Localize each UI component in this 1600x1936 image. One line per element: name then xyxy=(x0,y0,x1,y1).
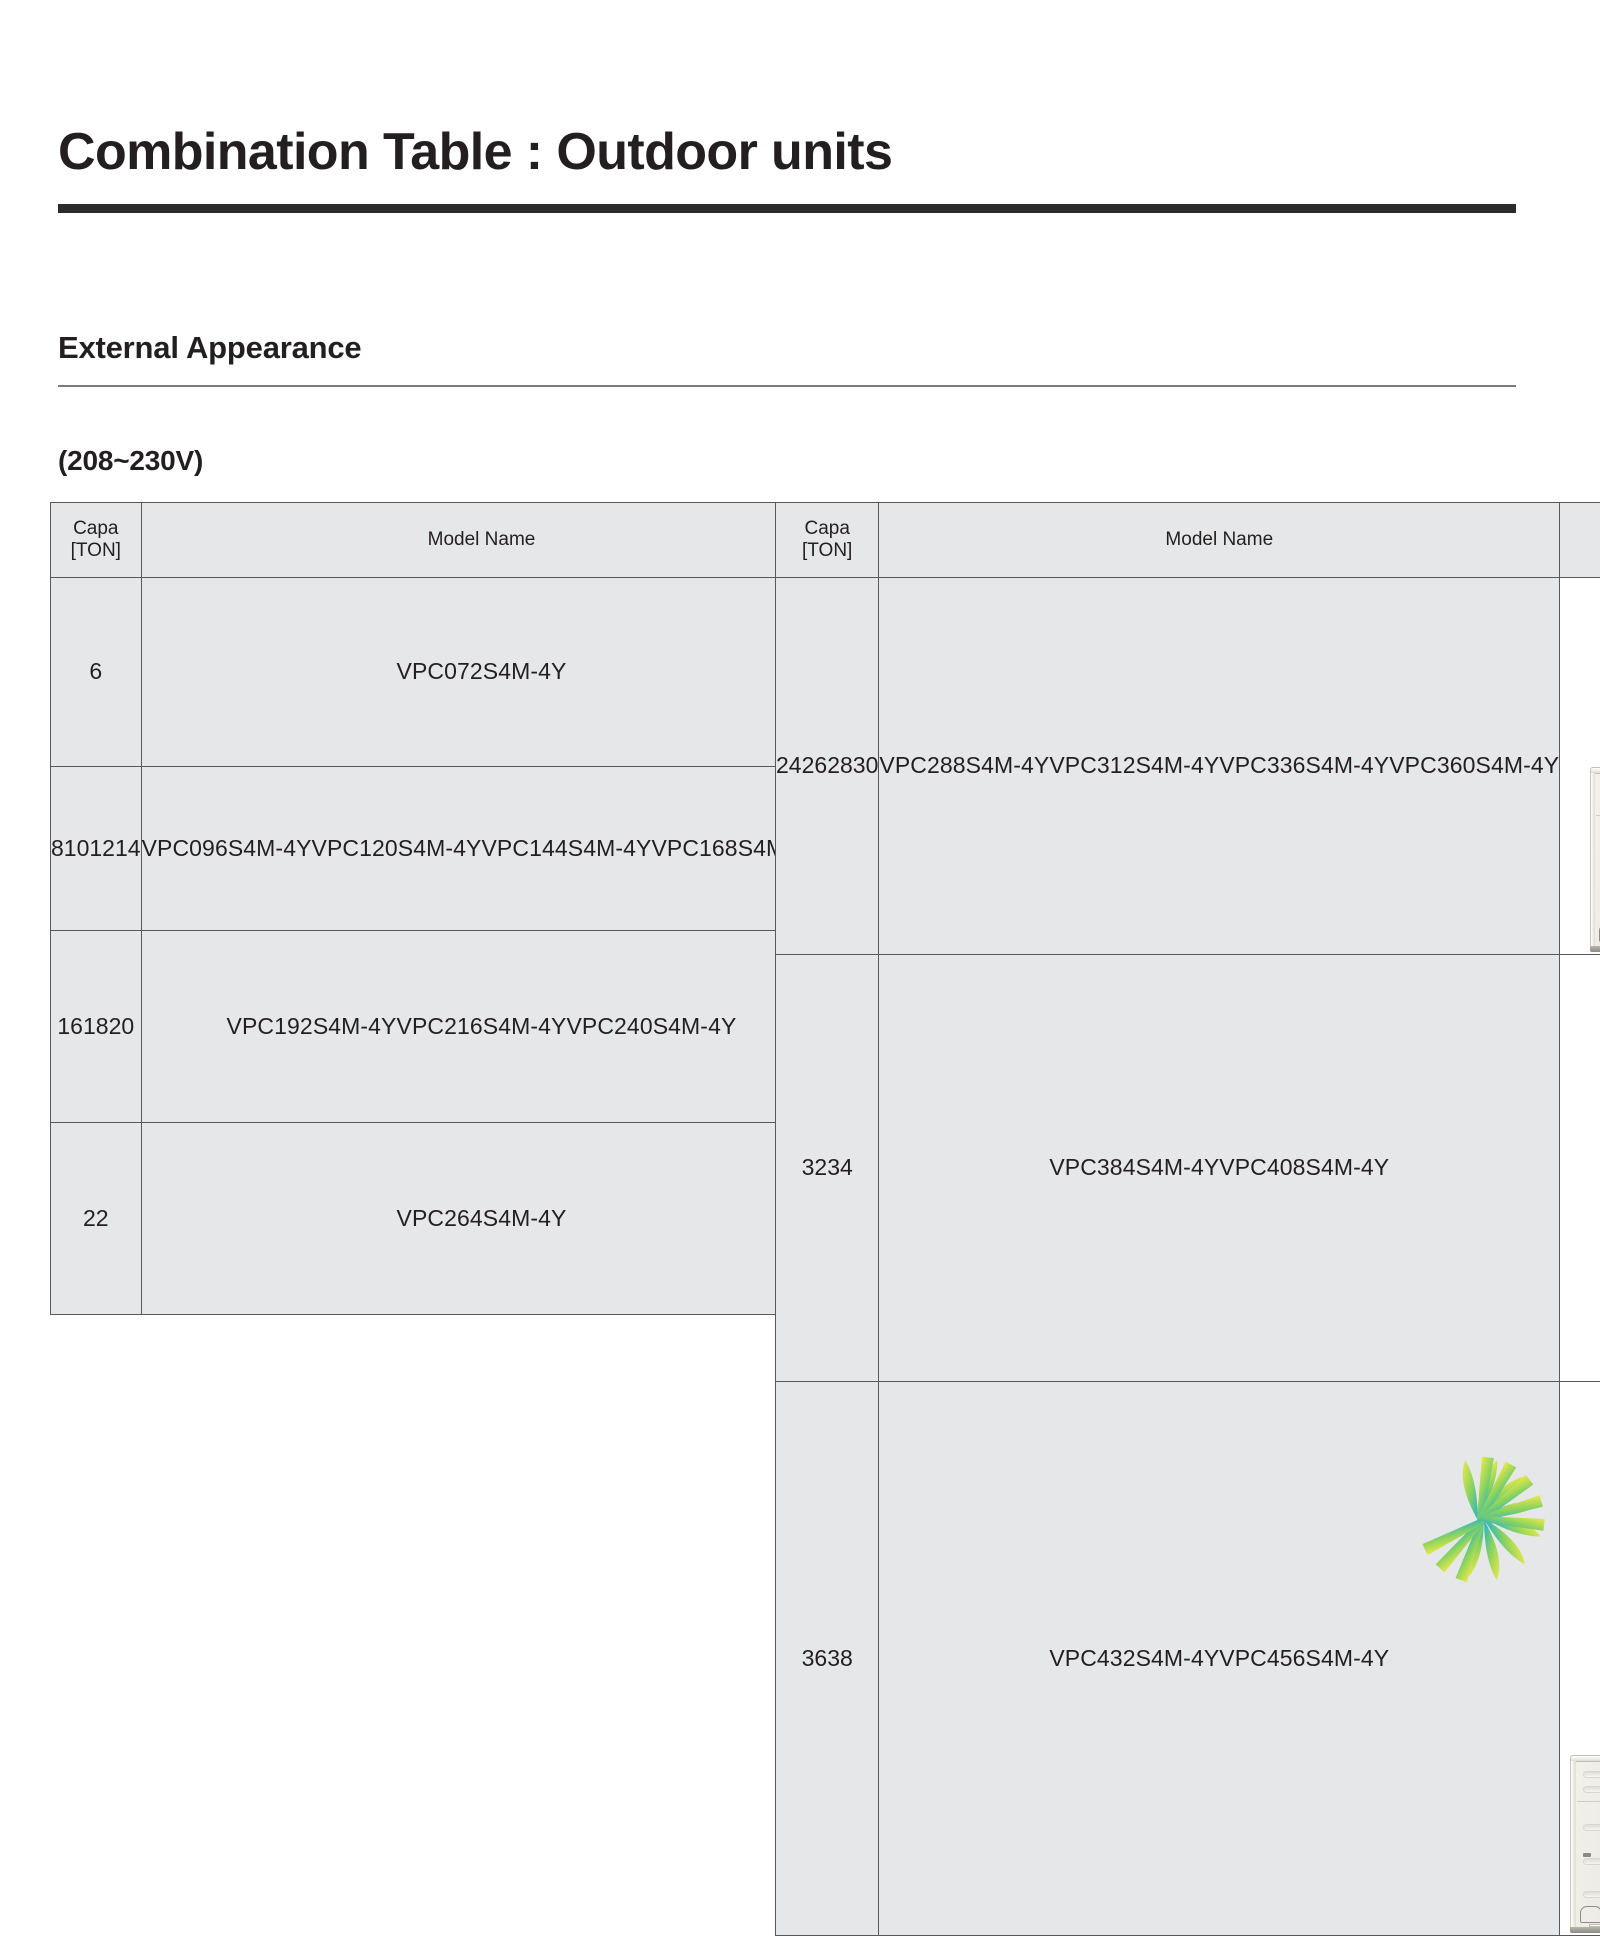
model-name-cell: VPC384S4M-4YVPC408S4M-4Y xyxy=(879,955,1560,1382)
unit-louver xyxy=(1583,1786,1600,1793)
section-divider xyxy=(58,385,1516,387)
table-row: 24262830VPC288S4M-4YVPC312S4M-4YVPC336S4… xyxy=(776,578,1600,955)
model-image-cell: LENNOXPOWERED BYSAMSUNGLENNOXPOWERED BYS… xyxy=(1560,578,1600,955)
unit-foot xyxy=(1589,1924,1600,1927)
page-root: Combination Table : Outdoor units Extern… xyxy=(0,0,1600,1600)
table-body-right: 24262830VPC288S4M-4YVPC312S4M-4YVPC336S4… xyxy=(776,578,1600,1936)
unit-louver xyxy=(1583,1858,1600,1865)
header-model: Model xyxy=(1560,503,1600,578)
capacity-value: 34 xyxy=(827,1154,853,1180)
capacity-value: 26 xyxy=(802,752,828,778)
model-image-cell: LENNOXPOWERED BYSAMSUNGLENNOXPOWERED BYS… xyxy=(1560,1382,1600,1936)
capacity-cell: 8101214 xyxy=(51,767,142,931)
header-capa-line1: Capa xyxy=(73,518,118,539)
capacity-cell: 3638 xyxy=(776,1382,879,1936)
capacity-value: 28 xyxy=(827,752,853,778)
capacity-value: 10 xyxy=(64,835,90,861)
unit-group: LENNOXPOWERED BYSAMSUNGLENNOXPOWERED BYS… xyxy=(1590,766,1600,954)
capacity-value: 32 xyxy=(802,1154,828,1180)
header-capa-line1: Capa xyxy=(804,518,849,539)
outdoor-unit: LENNOXPOWERED BYSAMSUNG xyxy=(1590,773,1600,948)
model-name-cell: VPC192S4M-4YVPC216S4M-4YVPC240S4M-4Y xyxy=(141,931,822,1123)
capacity-cell: 3234 xyxy=(776,955,879,1382)
model-name-value: VPC384S4M-4Y xyxy=(1049,1154,1219,1180)
table-row: 3234VPC384S4M-4YVPC408S4M-4YLENNOXPOWERE… xyxy=(776,955,1600,1382)
unit-louver xyxy=(1583,1824,1600,1831)
unit-handle xyxy=(1583,1853,1592,1857)
model-name-cell: VPC096S4M-4YVPC120S4M-4YVPC144S4M-4YVPC1… xyxy=(141,767,822,931)
voltage-label: (208~230V) xyxy=(58,445,203,477)
model-name-value: VPC144S4M-4Y xyxy=(481,835,651,861)
capacity-value: 12 xyxy=(89,835,115,861)
unit-group: LENNOXPOWERED BYSAMSUNGLENNOXPOWERED BYS… xyxy=(1560,1754,1600,1935)
model-name-value: VPC336S4M-4Y xyxy=(1219,752,1389,778)
model-name-value: VPC456S4M-4Y xyxy=(1219,1645,1389,1671)
combination-table-right: Capa [TON] Model Name Model 24262830VPC2… xyxy=(775,502,1600,1936)
unit-group: LENNOXPOWERED BYSAMSUNGLENNOXPOWERED BYS… xyxy=(1570,1754,1600,1935)
header-capa: Capa [TON] xyxy=(51,503,142,578)
unit-left-edge xyxy=(1591,773,1595,947)
unit-louver xyxy=(1583,1771,1600,1778)
unit-seam xyxy=(1577,1801,1600,1802)
model-name-value: VPC192S4M-4Y xyxy=(227,1013,397,1039)
capacity-value: 36 xyxy=(802,1645,828,1671)
capacity-value: 14 xyxy=(115,835,141,861)
header-model-name: Model Name xyxy=(879,503,1560,578)
model-name-cell: VPC264S4M-4Y xyxy=(141,1123,822,1315)
capacity-value: 18 xyxy=(83,1013,109,1039)
capacity-cell: 6 xyxy=(51,578,142,767)
model-name-value: VPC216S4M-4Y xyxy=(397,1013,567,1039)
model-image-cell: LENNOXPOWERED BYSAMSUNGLENNOXPOWERED BYS… xyxy=(1560,955,1600,1382)
model-name-value: VPC120S4M-4Y xyxy=(312,835,482,861)
capacity-value: 24 xyxy=(776,752,802,778)
unit-left-edge xyxy=(1571,1761,1576,1928)
unit-base xyxy=(1590,946,1600,952)
capacity-cell: 22 xyxy=(51,1123,142,1315)
outdoor-unit: LENNOXPOWERED BYSAMSUNG xyxy=(1570,1761,1600,1929)
unit-pipe-cover xyxy=(1580,1906,1600,1923)
table-head-right: Capa [TON] Model Name Model xyxy=(776,503,1600,578)
model-illustration: LENNOXPOWERED BYSAMSUNGLENNOXPOWERED BYS… xyxy=(1560,578,1600,954)
model-name-value: VPC312S4M-4Y xyxy=(1049,752,1219,778)
capacity-cell: 24262830 xyxy=(776,578,879,955)
capacity-cell: 161820 xyxy=(51,931,142,1123)
model-name-value: VPC432S4M-4Y xyxy=(1049,1645,1219,1671)
unit-base xyxy=(1570,1927,1600,1933)
model-name-value: VPC072S4M-4Y xyxy=(397,658,567,684)
model-name-value: VPC096S4M-4Y xyxy=(142,835,312,861)
header-capa-line2: [TON] xyxy=(802,540,852,561)
model-name-cell: VPC288S4M-4YVPC312S4M-4YVPC336S4M-4YVPC3… xyxy=(879,578,1560,955)
section-heading: External Appearance xyxy=(58,330,361,366)
capacity-value: 6 xyxy=(89,658,102,684)
capacity-value: 16 xyxy=(57,1013,83,1039)
capacity-value: 30 xyxy=(853,752,879,778)
model-name-value: VPC360S4M-4Y xyxy=(1389,752,1559,778)
title-divider xyxy=(58,204,1516,213)
capacity-value: 20 xyxy=(109,1013,135,1039)
header-capa: Capa [TON] xyxy=(776,503,879,578)
model-name-cell: VPC072S4M-4Y xyxy=(141,578,822,767)
model-illustration: LENNOXPOWERED BYSAMSUNGLENNOXPOWERED BYS… xyxy=(1560,955,1600,1381)
header-capa-line2: [TON] xyxy=(71,540,121,561)
unit-louver xyxy=(1583,1891,1600,1898)
header-row: Capa [TON] Model Name Model xyxy=(776,503,1600,578)
capacity-value: 22 xyxy=(83,1205,109,1231)
model-name-value: VPC240S4M-4Y xyxy=(566,1013,736,1039)
page-title: Combination Table : Outdoor units xyxy=(58,122,892,182)
capacity-value: 38 xyxy=(827,1645,853,1671)
model-name-value: VPC288S4M-4Y xyxy=(879,752,1049,778)
unit-seam xyxy=(1596,815,1600,816)
model-name-value: VPC264S4M-4Y xyxy=(397,1205,567,1231)
capacity-value: 8 xyxy=(51,835,64,861)
header-model-name: Model Name xyxy=(141,503,822,578)
model-illustration: LENNOXPOWERED BYSAMSUNGLENNOXPOWERED BYS… xyxy=(1560,1382,1600,1935)
burst-logo-icon xyxy=(1398,1438,1564,1596)
model-name-value: VPC408S4M-4Y xyxy=(1219,1154,1389,1180)
